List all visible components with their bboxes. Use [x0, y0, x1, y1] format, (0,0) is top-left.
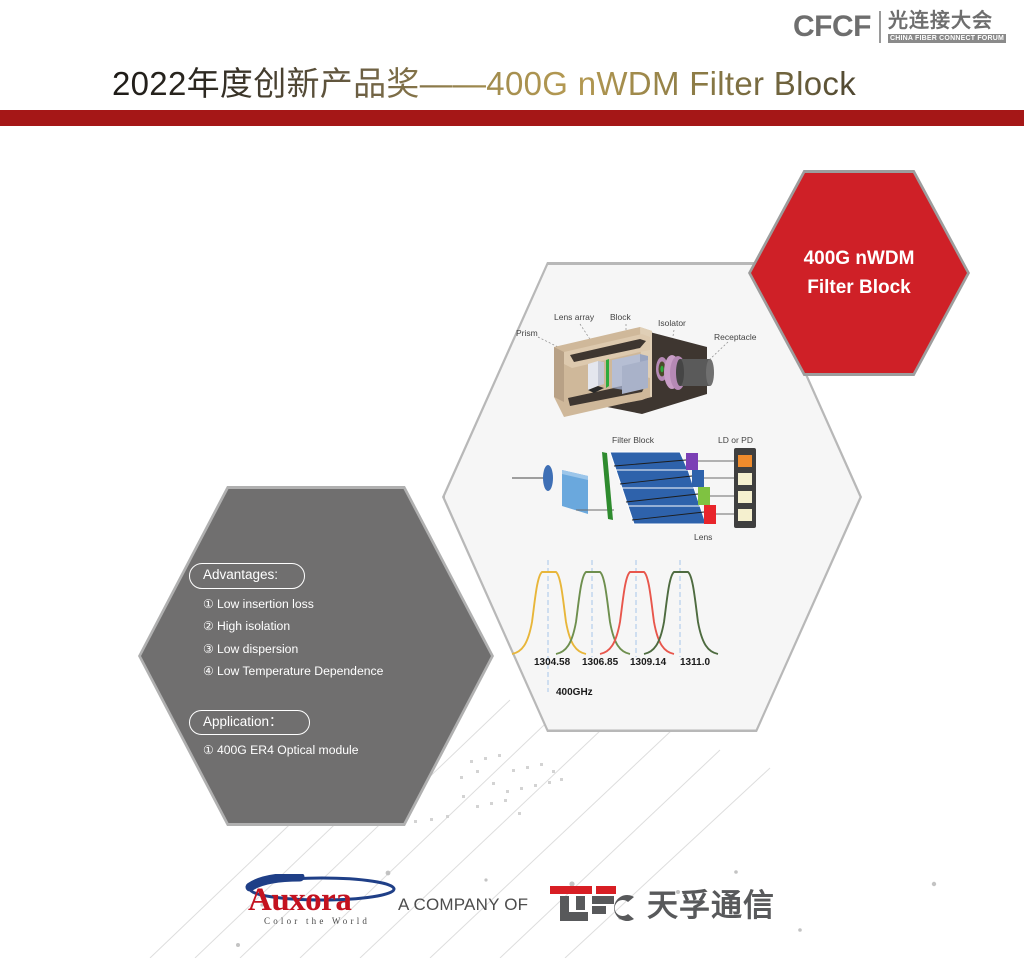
auxora-logo: Auxora Color the World	[248, 876, 396, 928]
cfc-logo-icon	[548, 886, 636, 924]
list-item: ②High isolation	[203, 620, 489, 633]
product-hexagon-fill: 400G nWDM Filter Block	[751, 173, 967, 373]
cfcf-logo-english: CHINA FIBER CONNECT FORUM	[888, 34, 1006, 43]
page-title: 2022年度创新产品奖——400G nWDM Filter Block	[112, 57, 856, 105]
product-name-line1: 400G nWDM	[804, 244, 915, 273]
label-ld-or-pd: LD or PD	[718, 435, 753, 445]
chart-label-ch2: 1306.85	[582, 657, 618, 668]
section-gap	[189, 688, 489, 710]
cfcf-forum-logo: CFCF 光连接大会 CHINA FIBER CONNECT FORUM	[793, 6, 1006, 48]
auxora-wordmark: Auxora	[248, 884, 396, 917]
bullet-number: ④	[203, 664, 214, 678]
advantages-content: Advantages: ①Low insertion loss ②High is…	[189, 563, 489, 767]
company-of-text: A COMPANY OF	[398, 895, 528, 915]
bullet-number: ③	[203, 642, 214, 656]
bullet-text: Low insertion loss	[217, 597, 314, 611]
label-prism: Prism	[516, 328, 538, 338]
label-isolator: Isolator	[658, 318, 686, 328]
list-item: ①Low insertion loss	[203, 598, 489, 611]
cfcf-logo-text-group: 光连接大会 CHINA FIBER CONNECT FORUM	[888, 11, 1006, 43]
advantages-list: ①Low insertion loss ②High isolation ③Low…	[189, 598, 489, 679]
chart-annotation-spacing: 400GHz	[556, 687, 593, 698]
list-item: ④Low Temperature Dependence	[203, 665, 489, 678]
optical-path-diagram: Filter Block LD or PD Lens	[502, 430, 782, 545]
chart-label-ch1: 1304.58	[534, 657, 570, 668]
chart-label-ch3: 1309.14	[630, 657, 666, 668]
cfc-company-logo: 天孚通信	[548, 886, 775, 924]
bullet-number: ②	[203, 619, 214, 633]
bullet-text: Low Temperature Dependence	[217, 664, 383, 678]
advantages-hexagon-fill: Advantages: ①Low insertion loss ②High is…	[141, 489, 491, 823]
bullet-number: ①	[203, 743, 214, 757]
list-item: ③Low dispersion	[203, 643, 489, 656]
label-filter-block: Filter Block	[612, 435, 655, 445]
label-lens-array: Lens array	[554, 312, 595, 322]
auxora-tagline: Color the World	[264, 916, 370, 926]
application-heading: Application：	[189, 710, 310, 736]
advantages-heading: Advantages:	[189, 563, 305, 589]
spectral-response-chart	[504, 552, 734, 707]
slide-root: CFCF 光连接大会 CHINA FIBER CONNECT FORUM 202…	[0, 0, 1024, 958]
cfcf-logo-mark: CFCF	[793, 12, 871, 42]
title-accent-bar	[0, 110, 1024, 126]
cfcf-logo-chinese: 光连接大会	[888, 11, 1006, 32]
label-lens: Lens	[694, 532, 712, 542]
bullet-number: ①	[203, 597, 214, 611]
bullet-text: Low dispersion	[217, 642, 298, 656]
bullet-text: High isolation	[217, 619, 290, 633]
advantages-hexagon-panel: Advantages: ①Low insertion loss ②High is…	[138, 486, 494, 826]
chart-label-ch4: 1311.0	[680, 657, 710, 668]
product-name-line2: Filter Block	[807, 273, 910, 302]
label-block: Block	[610, 312, 632, 322]
cfc-chinese-name: 天孚通信	[647, 890, 775, 921]
cfcf-logo-divider	[879, 11, 881, 43]
product-name-hexagon: 400G nWDM Filter Block	[748, 170, 970, 376]
bullet-text: 400G ER4 Optical module	[217, 743, 359, 757]
